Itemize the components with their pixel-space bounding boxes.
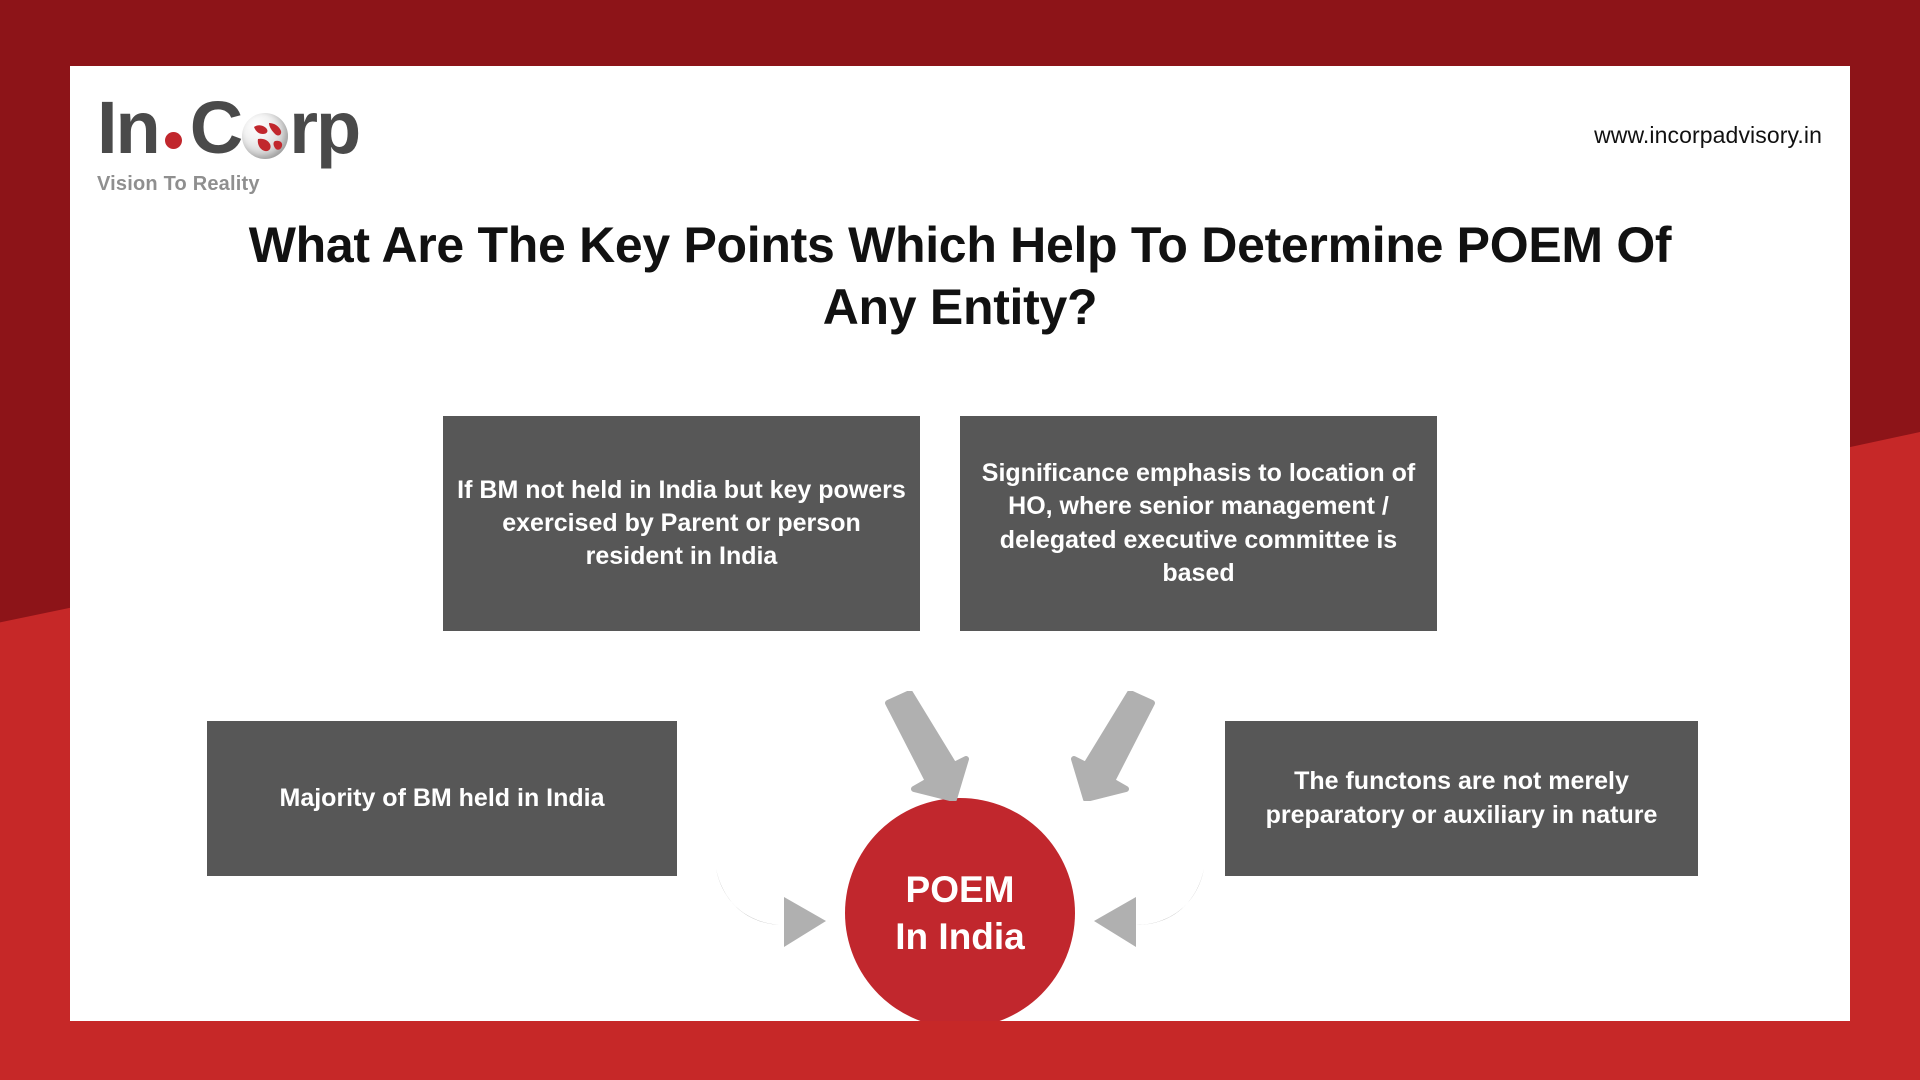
diagram-node-majority[interactable]: Majority of BM held in India xyxy=(207,721,677,876)
center-node-line2: In India xyxy=(895,913,1025,960)
slide-canvas: In C rp Vision To Reality www.incorpadvi… xyxy=(70,66,1850,1021)
diagram-node-significance[interactable]: Significance emphasis to location of HO,… xyxy=(960,416,1437,631)
curved-arrow-right-icon xyxy=(710,861,830,956)
straight-arrow-down-right-icon xyxy=(880,691,970,806)
diagram-node-functions[interactable]: The functons are not merely preparatory … xyxy=(1225,721,1698,876)
curved-arrow-left-icon xyxy=(1090,861,1210,956)
diagram-center-node[interactable]: POEM In India xyxy=(845,798,1075,1021)
poem-diagram: If BM not held in India but key powers e… xyxy=(70,66,1850,1021)
slide-frame: In C rp Vision To Reality www.incorpadvi… xyxy=(0,0,1920,1080)
diagram-node-bm-not-held[interactable]: If BM not held in India but key powers e… xyxy=(443,416,920,631)
straight-arrow-down-left-icon xyxy=(1070,691,1160,806)
center-node-line1: POEM xyxy=(906,866,1015,913)
